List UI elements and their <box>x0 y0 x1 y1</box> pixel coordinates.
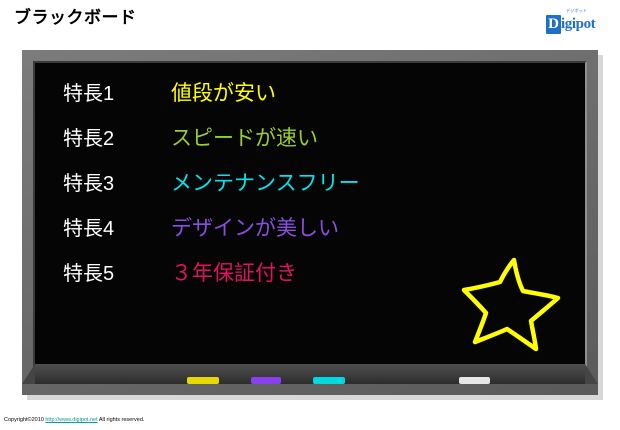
footer-copyright: Copyright©2010 http://www.digipot.net Al… <box>4 417 144 424</box>
feature-label: 特長5 <box>63 257 171 286</box>
feature-label: 特長4 <box>63 212 171 241</box>
board-surface: 特長1 値段が安い 特長2 スピードが速い 特長3 メンテナンスフリー 特長4 … <box>35 63 585 364</box>
table-row: 特長2 スピードが速い <box>63 122 575 167</box>
blackboard: 特長1 値段が安い 特長2 スピードが速い 特長3 メンテナンスフリー 特長4 … <box>22 50 598 395</box>
chalk-cyan <box>313 377 345 384</box>
logo-wordmark: igipot <box>561 15 595 34</box>
feature-label: 特長3 <box>63 167 171 196</box>
star-doodle-icon <box>457 252 567 352</box>
feature-label: 特長1 <box>63 77 171 106</box>
digipot-logo: デジポット D igipot <box>546 8 610 34</box>
chalk-white <box>459 377 490 384</box>
feature-value: メンテナンスフリー <box>171 167 360 197</box>
table-row: 特長3 メンテナンスフリー <box>63 167 575 212</box>
copyright-text: Copyright©2010 <box>4 417 44 423</box>
chalk-purple <box>251 377 281 384</box>
table-row: 特長4 デザインが美しい <box>63 212 575 257</box>
logo-kana-label: デジポット <box>566 8 588 14</box>
feature-label: 特長2 <box>63 122 171 151</box>
page-title: ブラックボード <box>14 8 137 28</box>
table-row: 特長1 値段が安い <box>63 77 575 122</box>
chalk-yellow <box>187 377 219 384</box>
chalk-ledge <box>35 364 585 384</box>
feature-value: ３年保証付き <box>171 257 297 287</box>
rights-text: All rights reserved. <box>99 417 145 423</box>
feature-value: スピードが速い <box>171 122 318 152</box>
board-frame: 特長1 値段が安い 特長2 スピードが速い 特長3 メンテナンスフリー 特長4 … <box>22 50 598 395</box>
logo-mark-letter: D <box>546 15 561 34</box>
feature-value: 値段が安い <box>171 77 276 107</box>
digipot-link[interactable]: http://www.digipot.net <box>45 417 97 423</box>
feature-value: デザインが美しい <box>171 212 339 242</box>
